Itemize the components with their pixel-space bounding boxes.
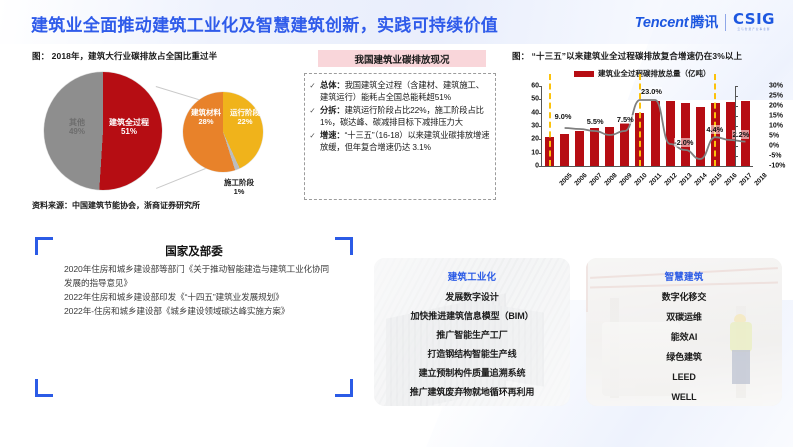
bullet-text: “十三五”（16-18）以来建筑业碳排放增速放缓，但年复合增速仍达 3.1% bbox=[320, 130, 489, 152]
x-axis-tick: 2013 bbox=[678, 172, 693, 187]
right-chart-caption: 图： “十三五”以来建筑业全过程碳排放复合增速仍在3%以上 bbox=[512, 50, 742, 62]
card-content: 建筑工业化 发展数字设计 加快推进建筑信息模型（BIM） 推广智能生产工厂 打造… bbox=[374, 258, 570, 406]
list-item: ✓ 增速：“十三五”（16-18）以来建筑业碳排放增速放缓，但年复合增速仍达 3… bbox=[308, 129, 491, 153]
card-line: 打造钢结构智能生产线 bbox=[427, 350, 516, 359]
pie-chart-breakdown bbox=[183, 92, 263, 172]
secondary-y-axis-tickmark bbox=[735, 96, 738, 97]
card-line: 建立预制构件质量追溯系统 bbox=[419, 369, 526, 378]
pie-slice-label-materials: 建筑材料28% bbox=[185, 108, 227, 127]
x-axis-tick: 2011 bbox=[648, 172, 663, 187]
left-chart-source: 资料来源：中国建筑节能协会，浙商证券研究所 bbox=[32, 200, 200, 211]
summary-panel: 我国建筑业碳排放现况 ✓ 总体：我国建筑全过程（含建材、建筑施工、建筑运行）能耗… bbox=[304, 50, 500, 210]
x-axis-tick: 2009 bbox=[618, 172, 633, 187]
x-axis-tick: 2010 bbox=[633, 172, 648, 187]
x-axis-tick: 2015 bbox=[709, 172, 724, 187]
card-title: 智慧建筑 bbox=[665, 269, 704, 283]
card-industrialization[interactable]: 建筑工业化 发展数字设计 加快推进建筑信息模型（BIM） 推广智能生产工厂 打造… bbox=[374, 258, 570, 406]
pie-slice-label-other: 其他49% bbox=[54, 118, 100, 136]
x-axis-tick: 2016 bbox=[724, 172, 739, 187]
secondary-y-axis-tick: 20% bbox=[769, 103, 783, 110]
bar-chart: 605040302010030%25%20%15%10%5%0%-5%-10%2… bbox=[512, 82, 790, 202]
y-axis-tick: 20 bbox=[531, 136, 539, 143]
x-axis-tick: 2017 bbox=[739, 172, 754, 187]
card-smart-building[interactable]: 智慧建筑 数字化移交 双碳运维 能效AI 绿色建筑 LEED WELL bbox=[586, 258, 782, 406]
secondary-y-axis-tick: -5% bbox=[769, 153, 781, 160]
secondary-y-axis-tickmark bbox=[735, 126, 738, 127]
x-axis-tick: 2018 bbox=[754, 172, 769, 187]
legend-swatch bbox=[574, 71, 594, 77]
bracket-bottom-left-icon bbox=[35, 379, 53, 397]
card-line: 绿色建筑 bbox=[666, 353, 702, 362]
government-title: 国家及部委 bbox=[44, 243, 344, 259]
x-axis-tick: 2012 bbox=[663, 172, 678, 187]
secondary-y-axis-tick: -10% bbox=[769, 163, 785, 170]
card-title: 建筑工业化 bbox=[448, 269, 497, 283]
right-chart-panel: 图： “十三五”以来建筑业全过程碳排放复合增速仍在3%以上 建筑业全过程碳排放总… bbox=[512, 50, 790, 205]
data-label: 5.5% bbox=[587, 117, 604, 126]
x-axis-tick: 2005 bbox=[558, 172, 573, 187]
government-policy-list: 2020年住房和城乡建设部等部门《关于推动智能建造与建筑工业化协同发展的指导意见… bbox=[64, 263, 332, 319]
secondary-y-axis-tick: 10% bbox=[769, 123, 783, 130]
data-label: 23.0% bbox=[641, 87, 662, 96]
tencent-logo-en: Tencent bbox=[635, 15, 689, 31]
secondary-y-axis-tick: 30% bbox=[769, 83, 783, 90]
pie-slice-label-whole-process: 建筑全过程51% bbox=[100, 118, 158, 136]
y-axis-tick: 30 bbox=[531, 123, 539, 130]
slide: 建筑业全面推动建筑工业化及智慧建筑创新，实践可持续价值 Tencent腾讯 CS… bbox=[0, 0, 793, 447]
government-policy-block: 国家及部委 2020年住房和城乡建设部等部门《关于推动智能建造与建筑工业化协同发… bbox=[44, 243, 344, 391]
secondary-y-axis-tick: 5% bbox=[769, 133, 779, 140]
card-line: 发展数字设计 bbox=[445, 293, 498, 302]
bullet-label: 总体： bbox=[320, 80, 345, 90]
secondary-y-axis-tickmark bbox=[735, 146, 738, 147]
list-item: ✓ 分拆：建筑运行阶段占比22%，施工阶段占比1%，碳达峰、碳减排目标下减排压力… bbox=[308, 104, 491, 128]
slide-header: 建筑业全面推动建筑工业化及智慧建筑创新，实践可持续价值 Tencent腾讯 CS… bbox=[0, 0, 793, 44]
bracket-bottom-right-icon bbox=[335, 379, 353, 397]
card-line: 数字化移交 bbox=[662, 293, 707, 302]
secondary-y-axis-tick: 15% bbox=[769, 113, 783, 120]
secondary-y-axis-tickmark bbox=[735, 166, 738, 167]
card-line: 加快推进建筑信息模型（BIM） bbox=[411, 312, 534, 321]
card-line: 能效AI bbox=[671, 333, 698, 342]
x-axis-tick: 2006 bbox=[573, 172, 588, 187]
y-axis-tick: 10 bbox=[531, 149, 539, 156]
check-icon: ✓ bbox=[308, 104, 317, 128]
list-item: 2020年住房和城乡建设部等部门《关于推动智能建造与建筑工业化协同发展的指导意见… bbox=[64, 263, 332, 291]
bullet-text: 建筑运行阶段占比22%，施工阶段占比1%，碳达峰、碳减排目标下减排压力大 bbox=[320, 105, 484, 127]
secondary-y-axis-tick: 0% bbox=[769, 143, 779, 150]
left-chart-caption: 图： 2018年，建筑大行业碳排放占全国比重过半 bbox=[32, 50, 217, 62]
secondary-y-axis-tickmark bbox=[735, 156, 738, 157]
chart-legend: 建筑业全过程碳排放总量（亿吨） bbox=[574, 68, 711, 79]
list-item: 2022年-住房和城乡建设部《城乡建设领域碳达峰实施方案》 bbox=[64, 305, 332, 319]
card-line: WELL bbox=[671, 393, 696, 402]
y-axis-tickmark bbox=[539, 166, 542, 167]
y-axis-tick: 40 bbox=[531, 109, 539, 116]
y-axis-tick: 60 bbox=[531, 83, 539, 90]
x-axis-tick: 2008 bbox=[603, 172, 618, 187]
data-label: -2.0% bbox=[674, 138, 693, 147]
x-axis-tick: 2007 bbox=[588, 172, 603, 187]
secondary-y-axis-tickmark bbox=[735, 136, 738, 137]
csig-logo-text: CSIG bbox=[733, 12, 775, 27]
data-label: 7.5% bbox=[617, 115, 634, 124]
logo-divider bbox=[725, 14, 726, 31]
tencent-logo-cn: 腾讯 bbox=[690, 14, 718, 30]
list-item: 2022年住房和城乡建设部印发《“十四五”建筑业发展规划》 bbox=[64, 291, 332, 305]
bullet-text: 我国建筑全过程（含建材、建筑施工、建筑运行）能耗占全国总能耗超51% bbox=[320, 80, 484, 102]
csig-logo-subtext: 云与智慧产业事业群 bbox=[737, 29, 770, 32]
card-line: 推广建筑废弃物就地循环再利用 bbox=[410, 388, 535, 397]
secondary-y-axis-tick: 25% bbox=[769, 93, 783, 100]
list-item: ✓ 总体：我国建筑全过程（含建材、建筑施工、建筑运行）能耗占全国总能耗超51% bbox=[308, 79, 491, 103]
legend-label: 建筑业全过程碳排放总量（亿吨） bbox=[598, 68, 711, 79]
bullet-label: 分拆： bbox=[320, 105, 345, 115]
pie-slice-label-operation: 运行阶段22% bbox=[226, 108, 264, 127]
y-axis-tick: 50 bbox=[531, 96, 539, 103]
left-chart-panel: 图： 2018年，建筑大行业碳排放占全国比重过半 其他49% 建筑全过程51% … bbox=[28, 50, 296, 215]
secondary-y-axis-tickmark bbox=[735, 106, 738, 107]
csig-logo: CSIG 云与智慧产业事业群 bbox=[733, 12, 775, 31]
check-icon: ✓ bbox=[308, 129, 317, 153]
card-line: 双碳运维 bbox=[666, 313, 702, 322]
card-line: LEED bbox=[672, 373, 696, 382]
summary-title: 我国建筑业碳排放现况 bbox=[318, 50, 486, 67]
tencent-logo: Tencent腾讯 bbox=[635, 12, 718, 32]
data-label: 4.4% bbox=[706, 125, 723, 134]
card-line: 推广智能生产工厂 bbox=[436, 331, 507, 340]
secondary-y-axis-tickmark bbox=[735, 86, 738, 87]
data-label: 9.0% bbox=[555, 112, 572, 121]
x-axis-tick: 2014 bbox=[693, 172, 708, 187]
secondary-y-axis-tickmark bbox=[735, 116, 738, 117]
pie-chart-area: 其他49% 建筑全过程51% 建筑材料28% 运行阶段22% 施工阶段1% bbox=[28, 66, 296, 198]
card-content: 智慧建筑 数字化移交 双碳运维 能效AI 绿色建筑 LEED WELL bbox=[586, 258, 782, 406]
page-title: 建筑业全面推动建筑工业化及智慧建筑创新，实践可持续价值 bbox=[31, 11, 498, 36]
summary-box: ✓ 总体：我国建筑全过程（含建材、建筑施工、建筑运行）能耗占全国总能耗超51% … bbox=[304, 73, 496, 200]
chart-plot-area: 605040302010030%25%20%15%10%5%0%-5%-10%2… bbox=[541, 86, 753, 167]
bullet-label: 增速： bbox=[320, 130, 345, 140]
logo-group: Tencent腾讯 CSIG 云与智慧产业事业群 bbox=[635, 12, 775, 32]
check-icon: ✓ bbox=[308, 79, 317, 103]
pie-slice-label-construction: 施工阶段1% bbox=[204, 178, 274, 197]
